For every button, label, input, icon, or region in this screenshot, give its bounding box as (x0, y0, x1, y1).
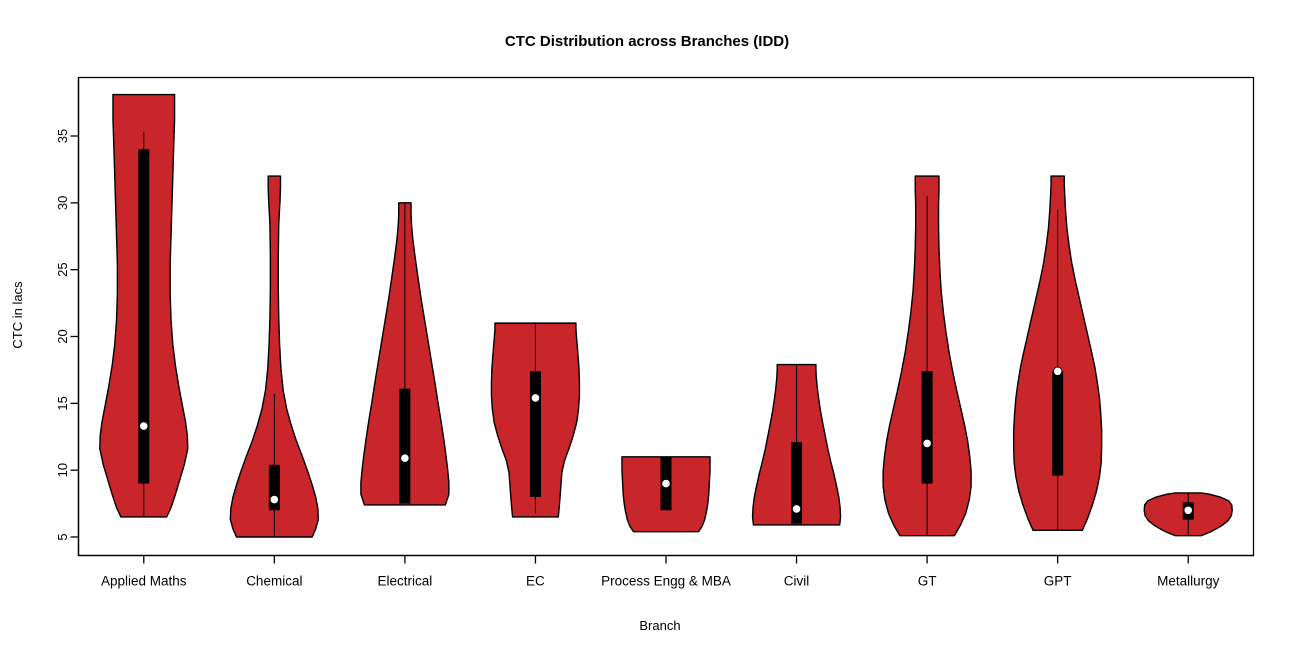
violin-plot-figure: CTC Distribution across Branches (IDD) C… (0, 0, 1294, 653)
median-point (662, 479, 670, 487)
y-tick-label: 30 (55, 196, 70, 210)
x-tick-label: Civil (784, 574, 810, 589)
median-point (270, 495, 278, 503)
y-axis-label: CTC in lacs (10, 281, 25, 349)
y-tick-label: 20 (55, 329, 70, 343)
iqr-box (1052, 371, 1063, 475)
x-tick-label: GPT (1044, 574, 1072, 589)
median-point (1184, 506, 1192, 514)
median-point (1053, 367, 1061, 375)
y-tick-label: 35 (55, 129, 70, 143)
y-tick-label: 10 (55, 463, 70, 477)
x-axis-label: Branch (639, 618, 680, 633)
x-tick-label: GT (918, 574, 937, 589)
iqr-box (530, 371, 541, 497)
x-tick-label: Chemical (246, 574, 302, 589)
median-point (401, 454, 409, 462)
y-tick-label: 15 (55, 396, 70, 410)
iqr-box (138, 149, 149, 483)
x-tick-label: Applied Maths (101, 574, 187, 589)
y-tick-label: 25 (55, 262, 70, 276)
chart-title: CTC Distribution across Branches (IDD) (505, 33, 789, 50)
iqr-box (399, 389, 410, 504)
violin-process-engg-mba[interactable] (622, 457, 710, 532)
x-tick-label: Process Engg & MBA (601, 574, 731, 589)
median-point (140, 422, 148, 430)
median-point (792, 505, 800, 513)
y-tick-label: 5 (55, 533, 70, 540)
x-tick-label: EC (526, 574, 545, 589)
iqr-box (922, 371, 933, 483)
chart-canvas: CTC Distribution across Branches (IDD) C… (0, 0, 1294, 653)
x-tick-label: Metallurgy (1157, 574, 1220, 589)
median-point (923, 439, 931, 447)
x-tick-label: Electrical (378, 574, 433, 589)
median-point (531, 394, 539, 402)
